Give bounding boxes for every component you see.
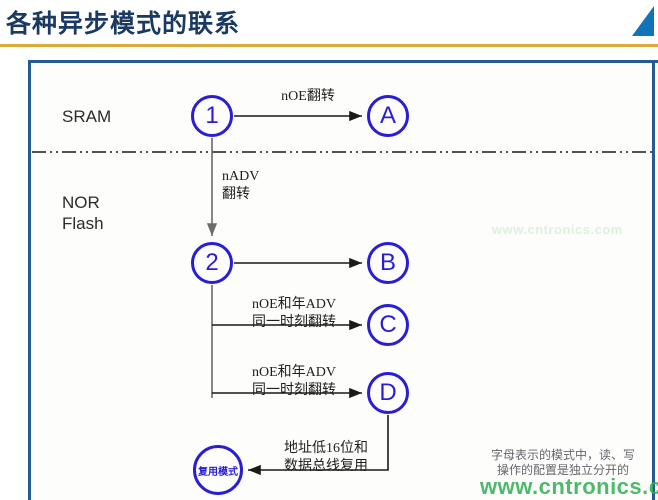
region-label-sram: SRAM: [62, 106, 111, 127]
edge-label-2-c: nOE和年ADV 同一时刻翻转: [228, 296, 360, 332]
diagram-note: 字母表示的模式中，读、写 操作的配置是独立分开的: [478, 448, 648, 478]
node-c[interactable]: C: [367, 304, 409, 346]
region-label-nor-flash: NOR Flash: [62, 192, 104, 234]
slide-root: 各种异步模式的联系: [0, 0, 658, 500]
node-b[interactable]: B: [367, 242, 409, 284]
edge-label-1-a: nOE翻转: [258, 88, 358, 106]
node-2[interactable]: 2: [191, 242, 233, 284]
diagram-connectors: [0, 0, 658, 500]
node-a[interactable]: A: [367, 95, 409, 137]
edge-label-2-d: nOE和年ADV 同一时刻翻转: [228, 364, 360, 400]
edge-label-1-2: nADV 翻转: [222, 168, 312, 204]
edge-label-d-mux: 地址低16位和 数据总线复用: [258, 440, 394, 476]
node-d[interactable]: D: [367, 372, 409, 414]
node-mux-mode[interactable]: 复用模式: [193, 445, 243, 495]
node-1[interactable]: 1: [191, 95, 233, 137]
